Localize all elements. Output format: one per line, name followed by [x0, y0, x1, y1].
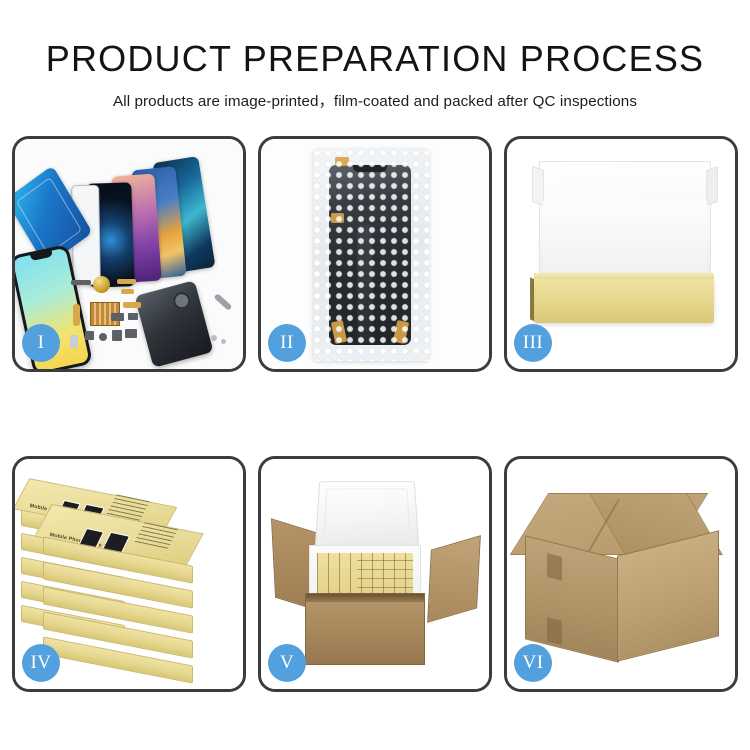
retail-boxes-inside-icon	[317, 553, 413, 597]
foam-sheet-icon	[543, 201, 707, 273]
part-chip-d-icon	[111, 313, 124, 321]
carton-tape-bottom-icon	[547, 617, 562, 645]
flex-cable-c-icon	[73, 304, 80, 326]
tape-mid-icon	[331, 213, 344, 223]
process-step-panel-5: V	[258, 456, 492, 692]
step-badge-5: V	[268, 644, 306, 682]
part-chip-c-icon	[125, 329, 137, 338]
bubble-wrap-illustration: II	[261, 139, 489, 369]
bubble-wrap-bag-icon	[313, 149, 429, 361]
part-button-icon	[99, 333, 107, 341]
part-chip-e-icon	[128, 313, 138, 320]
process-step-panel-6: VI	[504, 456, 738, 692]
boxed-stack-illustration: Mobile Phone Spare Parts Mobile Phone Sp…	[15, 459, 243, 689]
step-badge-4: IV	[22, 644, 60, 682]
page-subtitle: All products are image-printed，film-coat…	[0, 89, 750, 111]
step-badge-2: II	[268, 324, 306, 362]
sealed-carton-illustration: VI	[507, 459, 735, 689]
step-badge-3: III	[514, 324, 552, 362]
part-chip-a-icon	[85, 331, 94, 340]
speaker-module-icon	[93, 276, 110, 293]
part-strip-icon	[71, 280, 91, 285]
page-title: PRODUCT PREPARATION PROCESS	[0, 38, 750, 80]
lcd-flex-cable-icon	[357, 225, 372, 343]
foam-lid-icon	[315, 481, 420, 550]
flex-cable-a-icon	[117, 279, 136, 284]
part-camera-icon	[70, 335, 78, 348]
flex-cable-b-icon	[121, 289, 134, 294]
phone-parts-illustration: I	[15, 139, 243, 369]
carton-tape-top-icon	[547, 553, 562, 581]
part-chip-b-icon	[112, 330, 122, 341]
carton-body-icon	[305, 593, 425, 665]
carton-foam-illustration: V	[261, 459, 489, 689]
screw-a-icon	[211, 335, 217, 341]
process-step-panel-2: II	[258, 136, 492, 372]
process-step-panel-4: Mobile Phone Spare Parts Mobile Phone Sp…	[12, 456, 246, 692]
tape-top-icon	[335, 157, 349, 166]
step-badge-1: I	[22, 324, 60, 362]
process-step-panel-3: III	[504, 136, 738, 372]
process-step-panel-1: I	[12, 136, 246, 372]
process-step-grid: I II	[12, 136, 738, 692]
flex-cable-d-icon	[123, 302, 141, 308]
step-badge-6: VI	[514, 644, 552, 682]
foam-box-illustration: III	[507, 139, 735, 369]
product-preparation-page: PRODUCT PREPARATION PROCESS All products…	[0, 0, 750, 750]
lcd-screen-icon	[329, 165, 411, 345]
page-header: PRODUCT PREPARATION PROCESS All products…	[0, 38, 750, 111]
screw-b-icon	[221, 339, 226, 344]
box-front-icon	[534, 279, 714, 323]
